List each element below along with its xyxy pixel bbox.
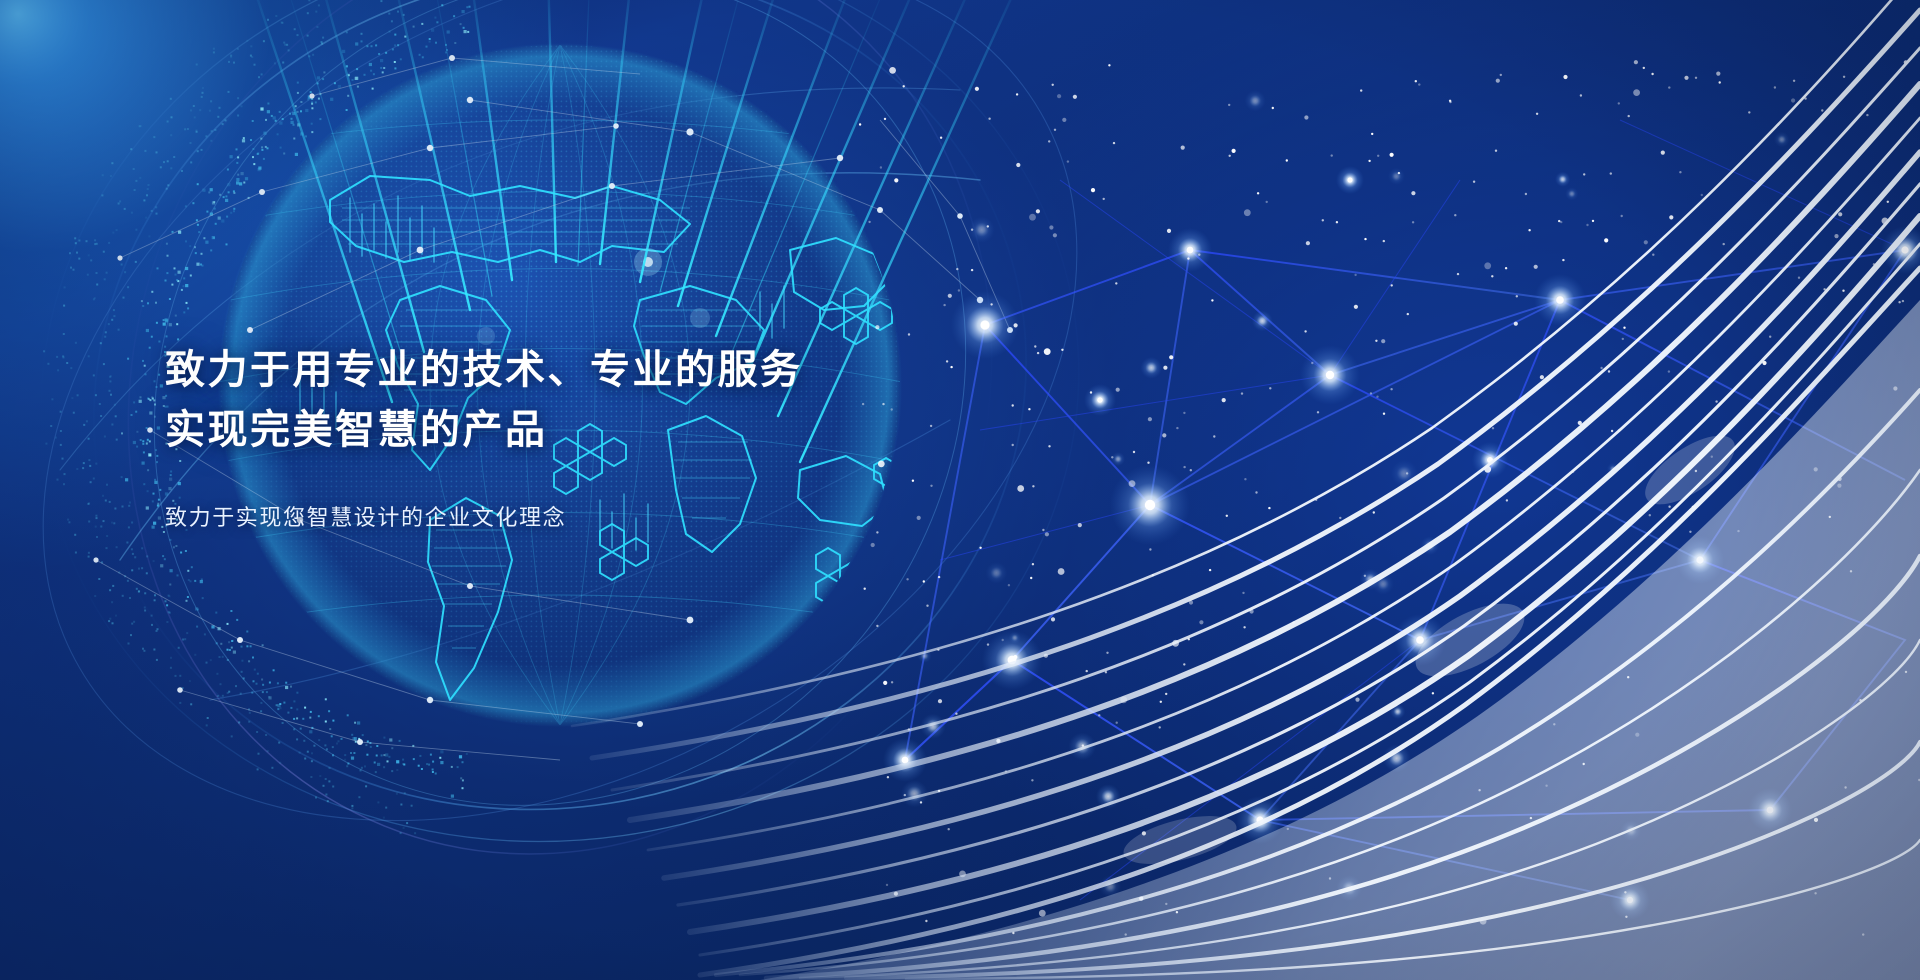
headline-line-2: 实现完美智慧的产品	[165, 400, 1065, 460]
headline-line-1: 致力于用专业的技术、专业的服务	[165, 340, 1065, 400]
hero-subtitle: 致力于实现您智慧设计的企业文化理念	[165, 502, 1065, 534]
hero-banner: 致力于用专业的技术、专业的服务 实现完美智慧的产品 致力于实现您智慧设计的企业文…	[0, 0, 1920, 980]
hero-copy-block: 致力于用专业的技术、专业的服务 实现完美智慧的产品 致力于实现您智慧设计的企业文…	[165, 340, 1065, 534]
